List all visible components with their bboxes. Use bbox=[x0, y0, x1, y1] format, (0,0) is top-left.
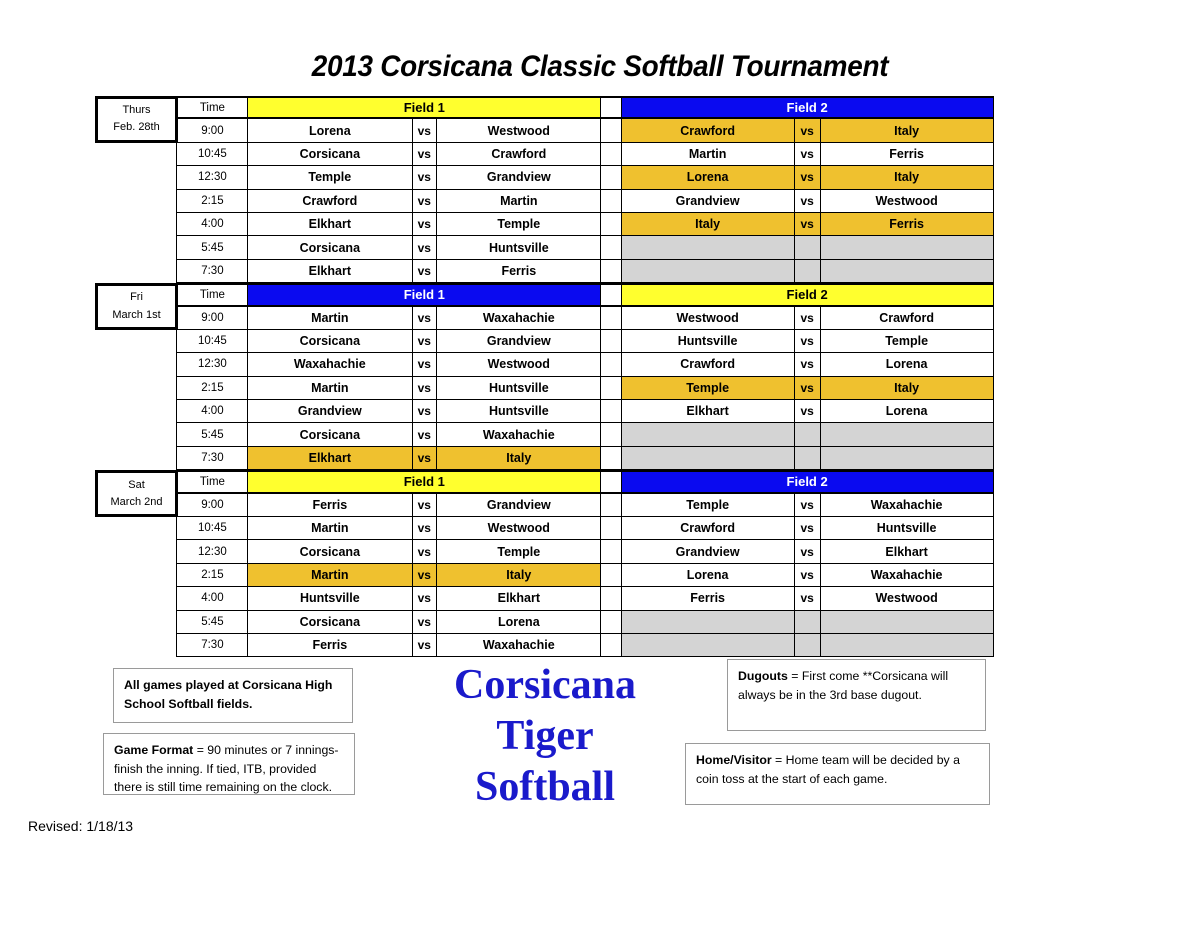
field2-away-team bbox=[821, 447, 993, 469]
field1-vs: vs bbox=[412, 377, 437, 399]
field1-away-team: Grandview bbox=[437, 166, 601, 188]
tournament-schedule: ThursFeb. 28thTimeField 1Field 29:00Lore… bbox=[95, 96, 1005, 657]
field2-game: CrawfordvsLorena bbox=[621, 353, 994, 376]
table-gap bbox=[600, 260, 622, 283]
time-column-header: Time bbox=[176, 470, 248, 493]
field2-home-team: Elkhart bbox=[622, 400, 794, 422]
field1-vs: vs bbox=[412, 494, 437, 516]
note-home-visitor: Home/Visitor = Home team will be decided… bbox=[685, 743, 990, 805]
game-time: 5:45 bbox=[176, 236, 248, 259]
field2-away-team: Elkhart bbox=[821, 540, 993, 562]
field2-away-team: Lorena bbox=[821, 400, 993, 422]
note-venue: All games played at Corsicana High Schoo… bbox=[113, 668, 353, 723]
game-time: 10:45 bbox=[176, 517, 248, 540]
field1-away-team: Crawford bbox=[437, 143, 601, 165]
game-row: 2:15CrawfordvsMartinGrandviewvsWestwood bbox=[95, 190, 1005, 213]
table-gap bbox=[600, 119, 622, 142]
day-header-row: ThursFeb. 28thTimeField 1Field 2 bbox=[95, 96, 1005, 119]
game-row: 9:00FerrisvsGrandviewTemplevsWaxahachie bbox=[95, 494, 1005, 517]
field2-home-team bbox=[622, 611, 794, 633]
day-spacer bbox=[95, 400, 178, 423]
game-row: 12:30CorsicanavsTempleGrandviewvsElkhart bbox=[95, 540, 1005, 563]
field1-away-team: Italy bbox=[437, 447, 601, 469]
field2-vs: vs bbox=[794, 377, 821, 399]
table-gap bbox=[600, 470, 622, 493]
field2-game: CrawfordvsHuntsville bbox=[621, 517, 994, 540]
field2-game bbox=[621, 447, 994, 470]
field1-vs: vs bbox=[412, 307, 437, 329]
field1-away-team: Grandview bbox=[437, 330, 601, 352]
game-row: 7:30FerrisvsWaxahachie bbox=[95, 634, 1005, 657]
game-time: 9:00 bbox=[176, 494, 248, 517]
field2-vs: vs bbox=[794, 587, 821, 609]
revised-date: Revised: 1/18/13 bbox=[28, 818, 133, 834]
field1-away-team: Huntsville bbox=[437, 236, 601, 258]
corsicana-tiger-softball-logo: Corsicana Tiger Softball bbox=[420, 660, 670, 814]
game-row: 4:00HuntsvillevsElkhartFerrisvsWestwood bbox=[95, 587, 1005, 610]
field1-home-team: Martin bbox=[248, 517, 412, 539]
game-row: 10:45MartinvsWestwoodCrawfordvsHuntsvill… bbox=[95, 517, 1005, 540]
field2-away-team: Westwood bbox=[821, 190, 993, 212]
field1-game: CorsicanavsCrawford bbox=[247, 143, 602, 166]
field1-away-team: Westwood bbox=[437, 353, 601, 375]
logo-line-1: Corsicana bbox=[420, 660, 670, 711]
field1-away-team: Lorena bbox=[437, 611, 601, 633]
field2-game: TemplevsWaxahachie bbox=[621, 494, 994, 517]
day-name: Sat bbox=[128, 477, 145, 494]
game-time: 9:00 bbox=[176, 119, 248, 142]
field1-header: Field 1 bbox=[247, 470, 602, 493]
field1-game: MartinvsItaly bbox=[247, 564, 602, 587]
field2-home-team bbox=[622, 423, 794, 445]
field1-away-team: Martin bbox=[437, 190, 601, 212]
field1-game: ElkhartvsFerris bbox=[247, 260, 602, 283]
game-row: 5:45CorsicanavsLorena bbox=[95, 611, 1005, 634]
field2-home-team: Crawford bbox=[622, 119, 794, 141]
day-spacer bbox=[95, 166, 178, 189]
game-time: 10:45 bbox=[176, 143, 248, 166]
field2-game bbox=[621, 423, 994, 446]
field2-game: GrandviewvsElkhart bbox=[621, 540, 994, 563]
day-spacer bbox=[95, 517, 178, 540]
field1-away-team: Huntsville bbox=[437, 377, 601, 399]
field2-home-team bbox=[622, 236, 794, 258]
field2-away-team bbox=[821, 260, 993, 282]
field1-game: CorsicanavsGrandview bbox=[247, 330, 602, 353]
field2-vs: vs bbox=[794, 213, 821, 235]
field1-away-team: Temple bbox=[437, 213, 601, 235]
field2-game bbox=[621, 611, 994, 634]
field1-vs: vs bbox=[412, 564, 437, 586]
field2-vs: vs bbox=[794, 400, 821, 422]
field2-label: Field 2 bbox=[622, 285, 993, 304]
field2-away-team: Waxahachie bbox=[821, 564, 993, 586]
game-time: 4:00 bbox=[176, 400, 248, 423]
field1-vs: vs bbox=[412, 611, 437, 633]
field1-home-team: Ferris bbox=[248, 494, 412, 516]
table-gap bbox=[600, 330, 622, 353]
field1-home-team: Martin bbox=[248, 377, 412, 399]
field2-vs bbox=[794, 611, 821, 633]
table-gap bbox=[600, 540, 622, 563]
field1-home-team: Martin bbox=[248, 307, 412, 329]
field1-vs: vs bbox=[412, 119, 437, 141]
table-gap bbox=[600, 423, 622, 446]
table-gap bbox=[600, 236, 622, 259]
game-row: 2:15MartinvsHuntsvilleTemplevsItaly bbox=[95, 377, 1005, 400]
field1-vs: vs bbox=[412, 540, 437, 562]
field1-home-team: Grandview bbox=[248, 400, 412, 422]
game-time: 7:30 bbox=[176, 634, 248, 657]
field1-vs: vs bbox=[412, 587, 437, 609]
table-gap bbox=[600, 611, 622, 634]
field2-label: Field 2 bbox=[622, 98, 993, 117]
field1-vs: vs bbox=[412, 330, 437, 352]
day-block: ThursFeb. 28thTimeField 1Field 29:00Lore… bbox=[95, 96, 1005, 283]
game-time: 12:30 bbox=[176, 353, 248, 376]
table-gap bbox=[600, 283, 622, 306]
field1-away-team: Elkhart bbox=[437, 587, 601, 609]
field1-away-team: Waxahachie bbox=[437, 423, 601, 445]
field1-away-team: Ferris bbox=[437, 260, 601, 282]
field1-away-team: Temple bbox=[437, 540, 601, 562]
field1-away-team: Waxahachie bbox=[437, 634, 601, 656]
field2-vs bbox=[794, 236, 821, 258]
field2-game: HuntsvillevsTemple bbox=[621, 330, 994, 353]
note-venue-text: All games played at Corsicana High Schoo… bbox=[124, 678, 332, 711]
game-time: 4:00 bbox=[176, 213, 248, 236]
field1-vs: vs bbox=[412, 213, 437, 235]
field1-away-team: Westwood bbox=[437, 517, 601, 539]
field2-vs: vs bbox=[794, 517, 821, 539]
day-spacer bbox=[95, 353, 178, 376]
field1-vs: vs bbox=[412, 190, 437, 212]
day-badge: SatMarch 2nd bbox=[95, 470, 178, 517]
field1-away-team: Waxahachie bbox=[437, 307, 601, 329]
field1-home-team: Crawford bbox=[248, 190, 412, 212]
table-gap bbox=[600, 517, 622, 540]
field1-away-team: Westwood bbox=[437, 119, 601, 141]
game-row: 7:30ElkhartvsItaly bbox=[95, 447, 1005, 470]
game-row: 12:30WaxahachievsWestwoodCrawfordvsLoren… bbox=[95, 353, 1005, 376]
note-game-format-label: Game Format bbox=[114, 743, 193, 757]
table-gap bbox=[600, 213, 622, 236]
field2-home-team: Temple bbox=[622, 494, 794, 516]
day-spacer bbox=[95, 330, 178, 353]
game-time: 12:30 bbox=[176, 166, 248, 189]
game-row: 9:00MartinvsWaxahachieWestwoodvsCrawford bbox=[95, 307, 1005, 330]
field1-home-team: Corsicana bbox=[248, 540, 412, 562]
field1-game: HuntsvillevsElkhart bbox=[247, 587, 602, 610]
field2-vs bbox=[794, 260, 821, 282]
day-spacer bbox=[95, 423, 178, 446]
field2-game: TemplevsItaly bbox=[621, 377, 994, 400]
field2-away-team: Italy bbox=[821, 119, 993, 141]
field1-header: Field 1 bbox=[247, 96, 602, 119]
note-home-visitor-label: Home/Visitor bbox=[696, 753, 772, 767]
game-time: 2:15 bbox=[176, 564, 248, 587]
field2-home-team: Lorena bbox=[622, 564, 794, 586]
field1-game: ElkhartvsTemple bbox=[247, 213, 602, 236]
game-time: 2:15 bbox=[176, 377, 248, 400]
field2-vs: vs bbox=[794, 494, 821, 516]
table-gap bbox=[600, 307, 622, 330]
field1-home-team: Martin bbox=[248, 564, 412, 586]
game-time: 4:00 bbox=[176, 587, 248, 610]
field2-away-team: Huntsville bbox=[821, 517, 993, 539]
field2-home-team bbox=[622, 634, 794, 656]
day-spacer bbox=[95, 260, 178, 283]
field2-home-team: Westwood bbox=[622, 307, 794, 329]
field1-vs: vs bbox=[412, 634, 437, 656]
field2-home-team: Italy bbox=[622, 213, 794, 235]
field1-game: MartinvsWaxahachie bbox=[247, 307, 602, 330]
field1-game: CorsicanavsHuntsville bbox=[247, 236, 602, 259]
day-spacer bbox=[95, 587, 178, 610]
game-row: 12:30TemplevsGrandviewLorenavsItaly bbox=[95, 166, 1005, 189]
field2-away-team: Temple bbox=[821, 330, 993, 352]
day-label-column: ThursFeb. 28th bbox=[95, 96, 178, 119]
game-time: 12:30 bbox=[176, 540, 248, 563]
field1-home-team: Corsicana bbox=[248, 143, 412, 165]
game-row: 4:00ElkhartvsTempleItalyvsFerris bbox=[95, 213, 1005, 236]
field2-vs: vs bbox=[794, 119, 821, 141]
game-time: 7:30 bbox=[176, 447, 248, 470]
field2-game bbox=[621, 236, 994, 259]
field1-game: CorsicanavsTemple bbox=[247, 540, 602, 563]
field1-home-team: Elkhart bbox=[248, 260, 412, 282]
game-row: 7:30ElkhartvsFerris bbox=[95, 260, 1005, 283]
field2-home-team bbox=[622, 260, 794, 282]
day-spacer bbox=[95, 190, 178, 213]
game-time: 9:00 bbox=[176, 307, 248, 330]
field2-home-team: Ferris bbox=[622, 587, 794, 609]
field2-vs: vs bbox=[794, 564, 821, 586]
field2-vs bbox=[794, 423, 821, 445]
field1-game: FerrisvsGrandview bbox=[247, 494, 602, 517]
field1-label: Field 1 bbox=[248, 472, 601, 491]
table-gap bbox=[600, 96, 622, 119]
note-dugouts: Dugouts = First come **Corsicana will al… bbox=[727, 659, 986, 731]
field1-vs: vs bbox=[412, 260, 437, 282]
field2-vs: vs bbox=[794, 143, 821, 165]
field1-home-team: Corsicana bbox=[248, 611, 412, 633]
day-header-row: SatMarch 2ndTimeField 1Field 2 bbox=[95, 470, 1005, 493]
game-row: 9:00LorenavsWestwoodCrawfordvsItaly bbox=[95, 119, 1005, 142]
field2-game: ElkhartvsLorena bbox=[621, 400, 994, 423]
field2-away-team: Crawford bbox=[821, 307, 993, 329]
field1-home-team: Corsicana bbox=[248, 330, 412, 352]
field2-vs: vs bbox=[794, 166, 821, 188]
day-spacer bbox=[95, 236, 178, 259]
page-title: 2013 Corsicana Classic Softball Tourname… bbox=[42, 50, 1158, 84]
field2-away-team: Ferris bbox=[821, 213, 993, 235]
field2-header: Field 2 bbox=[621, 470, 994, 493]
field2-home-team: Huntsville bbox=[622, 330, 794, 352]
game-row: 10:45CorsicanavsGrandviewHuntsvillevsTem… bbox=[95, 330, 1005, 353]
field1-home-team: Corsicana bbox=[248, 236, 412, 258]
day-spacer bbox=[95, 564, 178, 587]
field2-home-team: Lorena bbox=[622, 166, 794, 188]
game-time: 5:45 bbox=[176, 611, 248, 634]
field2-away-team: Lorena bbox=[821, 353, 993, 375]
game-row: 10:45CorsicanavsCrawfordMartinvsFerris bbox=[95, 143, 1005, 166]
day-spacer bbox=[95, 377, 178, 400]
note-game-format: Game Format = 90 minutes or 7 innings- f… bbox=[103, 733, 355, 795]
game-time: 5:45 bbox=[176, 423, 248, 446]
field2-home-team: Grandview bbox=[622, 540, 794, 562]
field2-vs: vs bbox=[794, 353, 821, 375]
field2-home-team bbox=[622, 447, 794, 469]
table-gap bbox=[600, 400, 622, 423]
field2-vs: vs bbox=[794, 330, 821, 352]
field1-vs: vs bbox=[412, 423, 437, 445]
field2-away-team bbox=[821, 634, 993, 656]
game-row: 4:00GrandviewvsHuntsvilleElkhartvsLorena bbox=[95, 400, 1005, 423]
field2-game: ItalyvsFerris bbox=[621, 213, 994, 236]
field1-game: LorenavsWestwood bbox=[247, 119, 602, 142]
field2-home-team: Grandview bbox=[622, 190, 794, 212]
field2-game: FerrisvsWestwood bbox=[621, 587, 994, 610]
game-time: 10:45 bbox=[176, 330, 248, 353]
field1-away-team: Huntsville bbox=[437, 400, 601, 422]
field1-game: MartinvsWestwood bbox=[247, 517, 602, 540]
day-spacer bbox=[95, 540, 178, 563]
time-column-header: Time bbox=[176, 96, 248, 119]
field1-home-team: Ferris bbox=[248, 634, 412, 656]
field2-away-team bbox=[821, 423, 993, 445]
field1-game: WaxahachievsWestwood bbox=[247, 353, 602, 376]
game-time: 2:15 bbox=[176, 190, 248, 213]
note-dugouts-label: Dugouts bbox=[738, 669, 788, 683]
field2-game bbox=[621, 260, 994, 283]
field2-away-team bbox=[821, 236, 993, 258]
field2-home-team: Martin bbox=[622, 143, 794, 165]
game-row: 5:45CorsicanavsHuntsville bbox=[95, 236, 1005, 259]
day-block: SatMarch 2ndTimeField 1Field 29:00Ferris… bbox=[95, 470, 1005, 657]
field1-game: GrandviewvsHuntsville bbox=[247, 400, 602, 423]
field2-away-team bbox=[821, 611, 993, 633]
field1-vs: vs bbox=[412, 400, 437, 422]
day-spacer bbox=[95, 213, 178, 236]
field1-game: ElkhartvsItaly bbox=[247, 447, 602, 470]
field1-game: CorsicanavsLorena bbox=[247, 611, 602, 634]
day-label-column: FriMarch 1st bbox=[95, 283, 178, 306]
table-gap bbox=[600, 587, 622, 610]
field2-label: Field 2 bbox=[622, 472, 993, 491]
day-header-row: FriMarch 1stTimeField 1Field 2 bbox=[95, 283, 1005, 306]
table-gap bbox=[600, 634, 622, 657]
field2-away-team: Italy bbox=[821, 166, 993, 188]
field2-header: Field 2 bbox=[621, 96, 994, 119]
day-spacer bbox=[95, 447, 178, 470]
day-spacer bbox=[95, 143, 178, 166]
table-gap bbox=[600, 494, 622, 517]
day-badge: ThursFeb. 28th bbox=[95, 96, 178, 143]
game-row: 5:45CorsicanavsWaxahachie bbox=[95, 423, 1005, 446]
field1-home-team: Lorena bbox=[248, 119, 412, 141]
day-badge: FriMarch 1st bbox=[95, 283, 178, 330]
game-time: 7:30 bbox=[176, 260, 248, 283]
field1-header: Field 1 bbox=[247, 283, 602, 306]
day-label-column: SatMarch 2nd bbox=[95, 470, 178, 493]
field1-game: FerrisvsWaxahachie bbox=[247, 634, 602, 657]
field2-away-team: Italy bbox=[821, 377, 993, 399]
field2-game bbox=[621, 634, 994, 657]
field2-home-team: Crawford bbox=[622, 517, 794, 539]
field1-game: MartinvsHuntsville bbox=[247, 377, 602, 400]
field2-vs: vs bbox=[794, 540, 821, 562]
field2-vs bbox=[794, 634, 821, 656]
field2-vs: vs bbox=[794, 307, 821, 329]
day-date: March 1st bbox=[112, 307, 160, 324]
field1-away-team: Italy bbox=[437, 564, 601, 586]
table-gap bbox=[600, 447, 622, 470]
game-row: 2:15MartinvsItalyLorenavsWaxahachie bbox=[95, 564, 1005, 587]
table-gap bbox=[600, 190, 622, 213]
field2-home-team: Temple bbox=[622, 377, 794, 399]
field1-home-team: Temple bbox=[248, 166, 412, 188]
field2-vs bbox=[794, 447, 821, 469]
field1-vs: vs bbox=[412, 353, 437, 375]
field2-game: LorenavsWaxahachie bbox=[621, 564, 994, 587]
field1-game: CorsicanavsWaxahachie bbox=[247, 423, 602, 446]
field1-game: TemplevsGrandview bbox=[247, 166, 602, 189]
field2-away-team: Ferris bbox=[821, 143, 993, 165]
field2-away-team: Waxahachie bbox=[821, 494, 993, 516]
field1-label: Field 1 bbox=[248, 285, 601, 304]
field1-home-team: Waxahachie bbox=[248, 353, 412, 375]
table-gap bbox=[600, 143, 622, 166]
logo-line-3: Softball bbox=[420, 762, 670, 813]
day-date: March 2nd bbox=[111, 494, 163, 511]
field2-game: WestwoodvsCrawford bbox=[621, 307, 994, 330]
field1-game: CrawfordvsMartin bbox=[247, 190, 602, 213]
day-name: Thurs bbox=[122, 102, 150, 119]
field2-header: Field 2 bbox=[621, 283, 994, 306]
field2-game: LorenavsItaly bbox=[621, 166, 994, 189]
time-column-header: Time bbox=[176, 283, 248, 306]
table-gap bbox=[600, 377, 622, 400]
field1-away-team: Grandview bbox=[437, 494, 601, 516]
field2-game: GrandviewvsWestwood bbox=[621, 190, 994, 213]
field2-game: MartinvsFerris bbox=[621, 143, 994, 166]
field2-away-team: Westwood bbox=[821, 587, 993, 609]
day-date: Feb. 28th bbox=[113, 119, 159, 136]
table-gap bbox=[600, 353, 622, 376]
day-name: Fri bbox=[130, 289, 143, 306]
day-spacer bbox=[95, 611, 178, 634]
field1-home-team: Elkhart bbox=[248, 447, 412, 469]
field2-vs: vs bbox=[794, 190, 821, 212]
field1-vs: vs bbox=[412, 166, 437, 188]
field1-vs: vs bbox=[412, 447, 437, 469]
table-gap bbox=[600, 564, 622, 587]
day-block: FriMarch 1stTimeField 1Field 29:00Martin… bbox=[95, 283, 1005, 470]
field2-home-team: Crawford bbox=[622, 353, 794, 375]
field1-vs: vs bbox=[412, 143, 437, 165]
field1-home-team: Corsicana bbox=[248, 423, 412, 445]
field1-label: Field 1 bbox=[248, 98, 601, 117]
field1-home-team: Elkhart bbox=[248, 213, 412, 235]
logo-line-2: Tiger bbox=[420, 711, 670, 762]
table-gap bbox=[600, 166, 622, 189]
field1-vs: vs bbox=[412, 517, 437, 539]
field2-game: CrawfordvsItaly bbox=[621, 119, 994, 142]
field1-home-team: Huntsville bbox=[248, 587, 412, 609]
field1-vs: vs bbox=[412, 236, 437, 258]
day-spacer bbox=[95, 634, 178, 657]
